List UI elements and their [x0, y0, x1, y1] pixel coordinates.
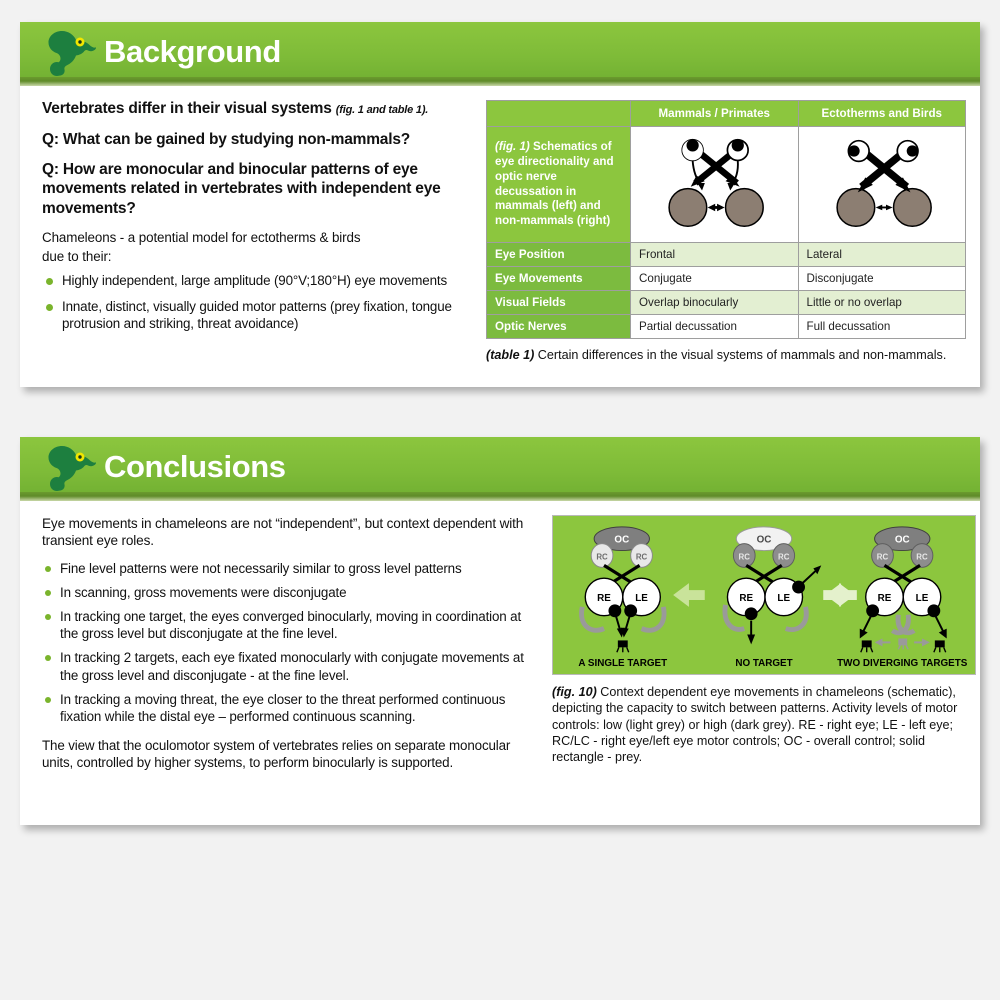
chameleon-icon — [38, 31, 96, 77]
cell-visual-fields-mammals: Overlap binocularly — [631, 291, 799, 315]
svg-text:RC: RC — [778, 552, 790, 561]
background-lead: Vertebrates differ in their visual syste… — [42, 100, 480, 119]
background-section-panel: Background Vertebrates differ in their v… — [20, 22, 980, 387]
svg-text:RC: RC — [877, 552, 889, 561]
list-item: In tracking one target, the eyes converg… — [42, 608, 542, 642]
svg-text:RC: RC — [636, 552, 648, 561]
row-header-eye-movements: Eye Movements — [487, 267, 631, 291]
svg-text:RE: RE — [739, 593, 753, 604]
conclusions-section-header: Conclusions — [20, 437, 980, 501]
list-item: Highly independent, large amplitude (90°… — [42, 272, 480, 289]
svg-text:A SINGLE TARGET: A SINGLE TARGET — [578, 658, 667, 669]
figure1-caption-cell: (fig. 1) Schematics of eye directionalit… — [487, 127, 631, 243]
conclusions-bullet-list: Fine level patterns were not necessarily… — [42, 560, 542, 725]
poster-canvas: Background Vertebrates differ in their v… — [0, 0, 1000, 1000]
cell-eye-position-ectotherms: Lateral — [798, 243, 966, 267]
list-item: Fine level patterns were not necessarily… — [42, 560, 542, 577]
svg-text:OC: OC — [757, 535, 772, 546]
background-section-header: Background — [20, 22, 980, 86]
background-lead-text: Vertebrates differ in their visual syste… — [42, 100, 332, 117]
table-row: Eye Position Frontal Lateral — [487, 243, 966, 267]
visual-systems-table: Mammals / Primates Ectotherms and Birds … — [486, 100, 966, 339]
figure1-ectotherms-diagram — [798, 127, 966, 243]
conclusions-lead: Eye movements in chameleons are not “ind… — [42, 515, 542, 550]
column-header-mammals: Mammals / Primates — [631, 101, 799, 127]
conclusions-text-column: Eye movements in chameleons are not “ind… — [42, 515, 552, 785]
list-item: In scanning, gross movements were discon… — [42, 584, 542, 601]
background-title: Background — [104, 36, 281, 73]
conclusions-footer: The view that the oculomotor system of v… — [42, 737, 542, 772]
list-item: In tracking a moving threat, the eye clo… — [42, 691, 542, 725]
conclusions-body: Eye movements in chameleons are not “ind… — [20, 501, 980, 785]
background-question-1: Q: What can be gained by studying non-ma… — [42, 130, 480, 149]
svg-text:LE: LE — [916, 593, 929, 604]
table-header-row: Mammals / Primates Ectotherms and Birds — [487, 101, 966, 127]
svg-text:NO TARGET: NO TARGET — [735, 658, 792, 669]
svg-text:RC: RC — [739, 552, 751, 561]
background-model-line-1: Chameleons - a potential model for ectot… — [42, 229, 480, 246]
background-body: Vertebrates differ in their visual syste… — [20, 86, 980, 363]
conclusions-title: Conclusions — [104, 451, 286, 488]
svg-text:RE: RE — [597, 593, 611, 604]
table1-caption-text: Certain differences in the visual system… — [534, 348, 946, 362]
svg-text:LE: LE — [635, 593, 648, 604]
figure10-caption-text: Context dependent eye movements in chame… — [552, 685, 957, 764]
figure1-mammals-diagram — [631, 127, 799, 243]
svg-text:OC: OC — [895, 535, 910, 546]
table-row: Visual Fields Overlap binocularly Little… — [487, 291, 966, 315]
list-item: Innate, distinct, visually guided motor … — [42, 298, 480, 333]
list-item: In tracking 2 targets, each eye fixated … — [42, 649, 542, 683]
chameleon-icon — [38, 446, 96, 492]
svg-text:RC: RC — [596, 552, 608, 561]
table1-caption: (table 1) Certain differences in the vis… — [486, 347, 956, 363]
conclusions-figure-column: OC RC RC RE LE — [552, 515, 982, 785]
cell-eye-position-mammals: Frontal — [631, 243, 799, 267]
figure1-caption-text: Schematics of eye directionality and opt… — [495, 140, 614, 227]
conclusions-section-panel: Conclusions Eye movements in chameleons … — [20, 437, 980, 825]
svg-text:OC: OC — [614, 535, 629, 546]
row-header-optic-nerves: Optic Nerves — [487, 315, 631, 339]
background-bullet-list: Highly independent, large amplitude (90°… — [42, 272, 480, 333]
svg-text:RE: RE — [878, 593, 892, 604]
figure10-diagram: OC RC RC RE LE — [552, 515, 976, 675]
background-question-2: Q: How are monocular and binocular patte… — [42, 160, 480, 218]
row-header-visual-fields: Visual Fields — [487, 291, 631, 315]
svg-text:LE: LE — [777, 593, 790, 604]
row-header-eye-position: Eye Position — [487, 243, 631, 267]
cell-optic-nerves-mammals: Partial decussation — [631, 315, 799, 339]
cell-eye-movements-ectotherms: Disconjugate — [798, 267, 966, 291]
svg-text:RC: RC — [916, 552, 928, 561]
cell-visual-fields-ectotherms: Little or no overlap — [798, 291, 966, 315]
table-row: Optic Nerves Partial decussation Full de… — [487, 315, 966, 339]
table-corner-cell — [487, 101, 631, 127]
table-figure-row: (fig. 1) Schematics of eye directionalit… — [487, 127, 966, 243]
cell-optic-nerves-ectotherms: Full decussation — [798, 315, 966, 339]
svg-text:TWO DIVERGING TARGETS: TWO DIVERGING TARGETS — [837, 658, 968, 669]
cell-eye-movements-mammals: Conjugate — [631, 267, 799, 291]
table1-caption-ref: (table 1) — [486, 348, 534, 362]
column-header-ectotherms: Ectotherms and Birds — [798, 101, 966, 127]
background-table-column: Mammals / Primates Ectotherms and Birds … — [486, 100, 968, 363]
table-row: Eye Movements Conjugate Disconjugate — [487, 267, 966, 291]
background-text-column: Vertebrates differ in their visual syste… — [42, 100, 486, 363]
background-lead-ref: (fig. 1 and table 1). — [336, 104, 428, 116]
figure10-caption: (fig. 10) Context dependent eye movement… — [552, 684, 976, 766]
figure1-ref: (fig. 1) — [495, 140, 530, 153]
background-model-line-2: due to their: — [42, 248, 480, 265]
figure10-caption-ref: (fig. 10) — [552, 685, 597, 699]
